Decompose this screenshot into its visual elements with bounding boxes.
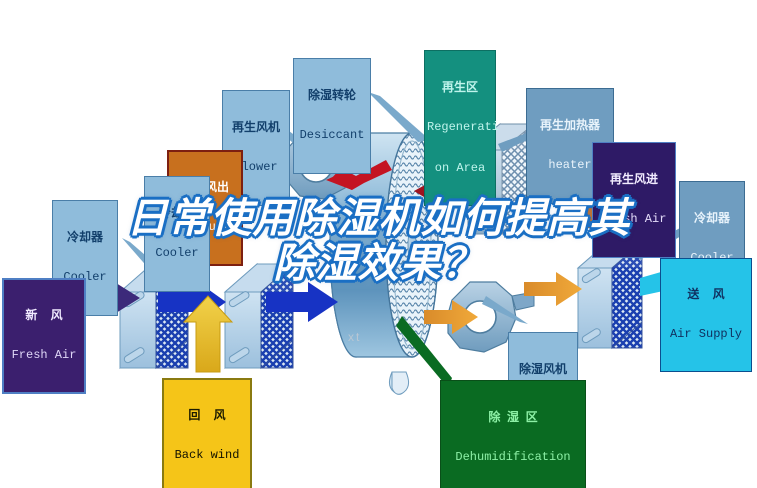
cooling-coil-mid	[225, 264, 293, 368]
label-back-wind-en: Back wind	[166, 449, 248, 462]
schematic-canvas: 日常使用除湿机如何提高其 除湿效果？ xt 除湿转轮 Desiccant 再生风…	[0, 0, 757, 488]
cooling-coil-right	[578, 242, 642, 348]
label-fresh-air: 新 风 Fresh Air	[2, 278, 86, 394]
label-dehum-district-en: Dehumidification	[443, 451, 583, 464]
label-regen-blower-cn: 再生风机	[225, 121, 287, 134]
label-regen-heater-cn: 再生加热器	[529, 119, 611, 132]
label-regen-area: 再生区 Regenerati on Area	[424, 50, 496, 206]
watermark: xt	[348, 330, 361, 344]
label-cooler-left-cn: 冷却器	[55, 231, 115, 244]
label-cooler-right-cn: 冷却器	[682, 212, 742, 225]
label-back-wind-cn: 回 风	[166, 409, 248, 422]
label-back-wind: 回 风 Back wind	[162, 378, 252, 488]
label-cooler-mid-en: Cooler	[147, 247, 207, 260]
label-desiccant-en: Desiccant	[296, 129, 368, 142]
label-regen-area-en2: on Area	[427, 162, 493, 175]
label-desiccant: 除湿转轮 Desiccant	[293, 58, 371, 174]
label-regen-area-en: Regenerati	[427, 121, 493, 134]
label-fresh-air-en: Fresh Air	[6, 349, 82, 362]
label-air-supply: 送 风 Air Supply	[660, 258, 752, 372]
label-air-supply-cn: 送 风	[663, 288, 749, 301]
label-cooler-mid: 冷却器 Cooler	[144, 176, 210, 292]
label-dehum-district-cn: 除 湿 区	[443, 411, 583, 424]
label-regen-fresh-air-en: Fresh Air	[595, 213, 673, 226]
label-dehum-blower-cn: 除湿风机	[511, 363, 575, 376]
label-dehum-district: 除 湿 区 Dehumidification District	[440, 380, 586, 488]
label-air-supply-en: Air Supply	[663, 328, 749, 341]
label-fresh-air-cn: 新 风	[6, 309, 82, 322]
label-regen-area-cn: 再生区	[427, 81, 493, 94]
label-desiccant-cn: 除湿转轮	[296, 89, 368, 102]
label-regen-fresh-air-cn: 再生风进	[595, 173, 673, 186]
label-cooler-mid-cn: 冷却器	[147, 207, 207, 220]
label-regen-fresh-air: 再生风进 Fresh Air	[592, 142, 676, 258]
